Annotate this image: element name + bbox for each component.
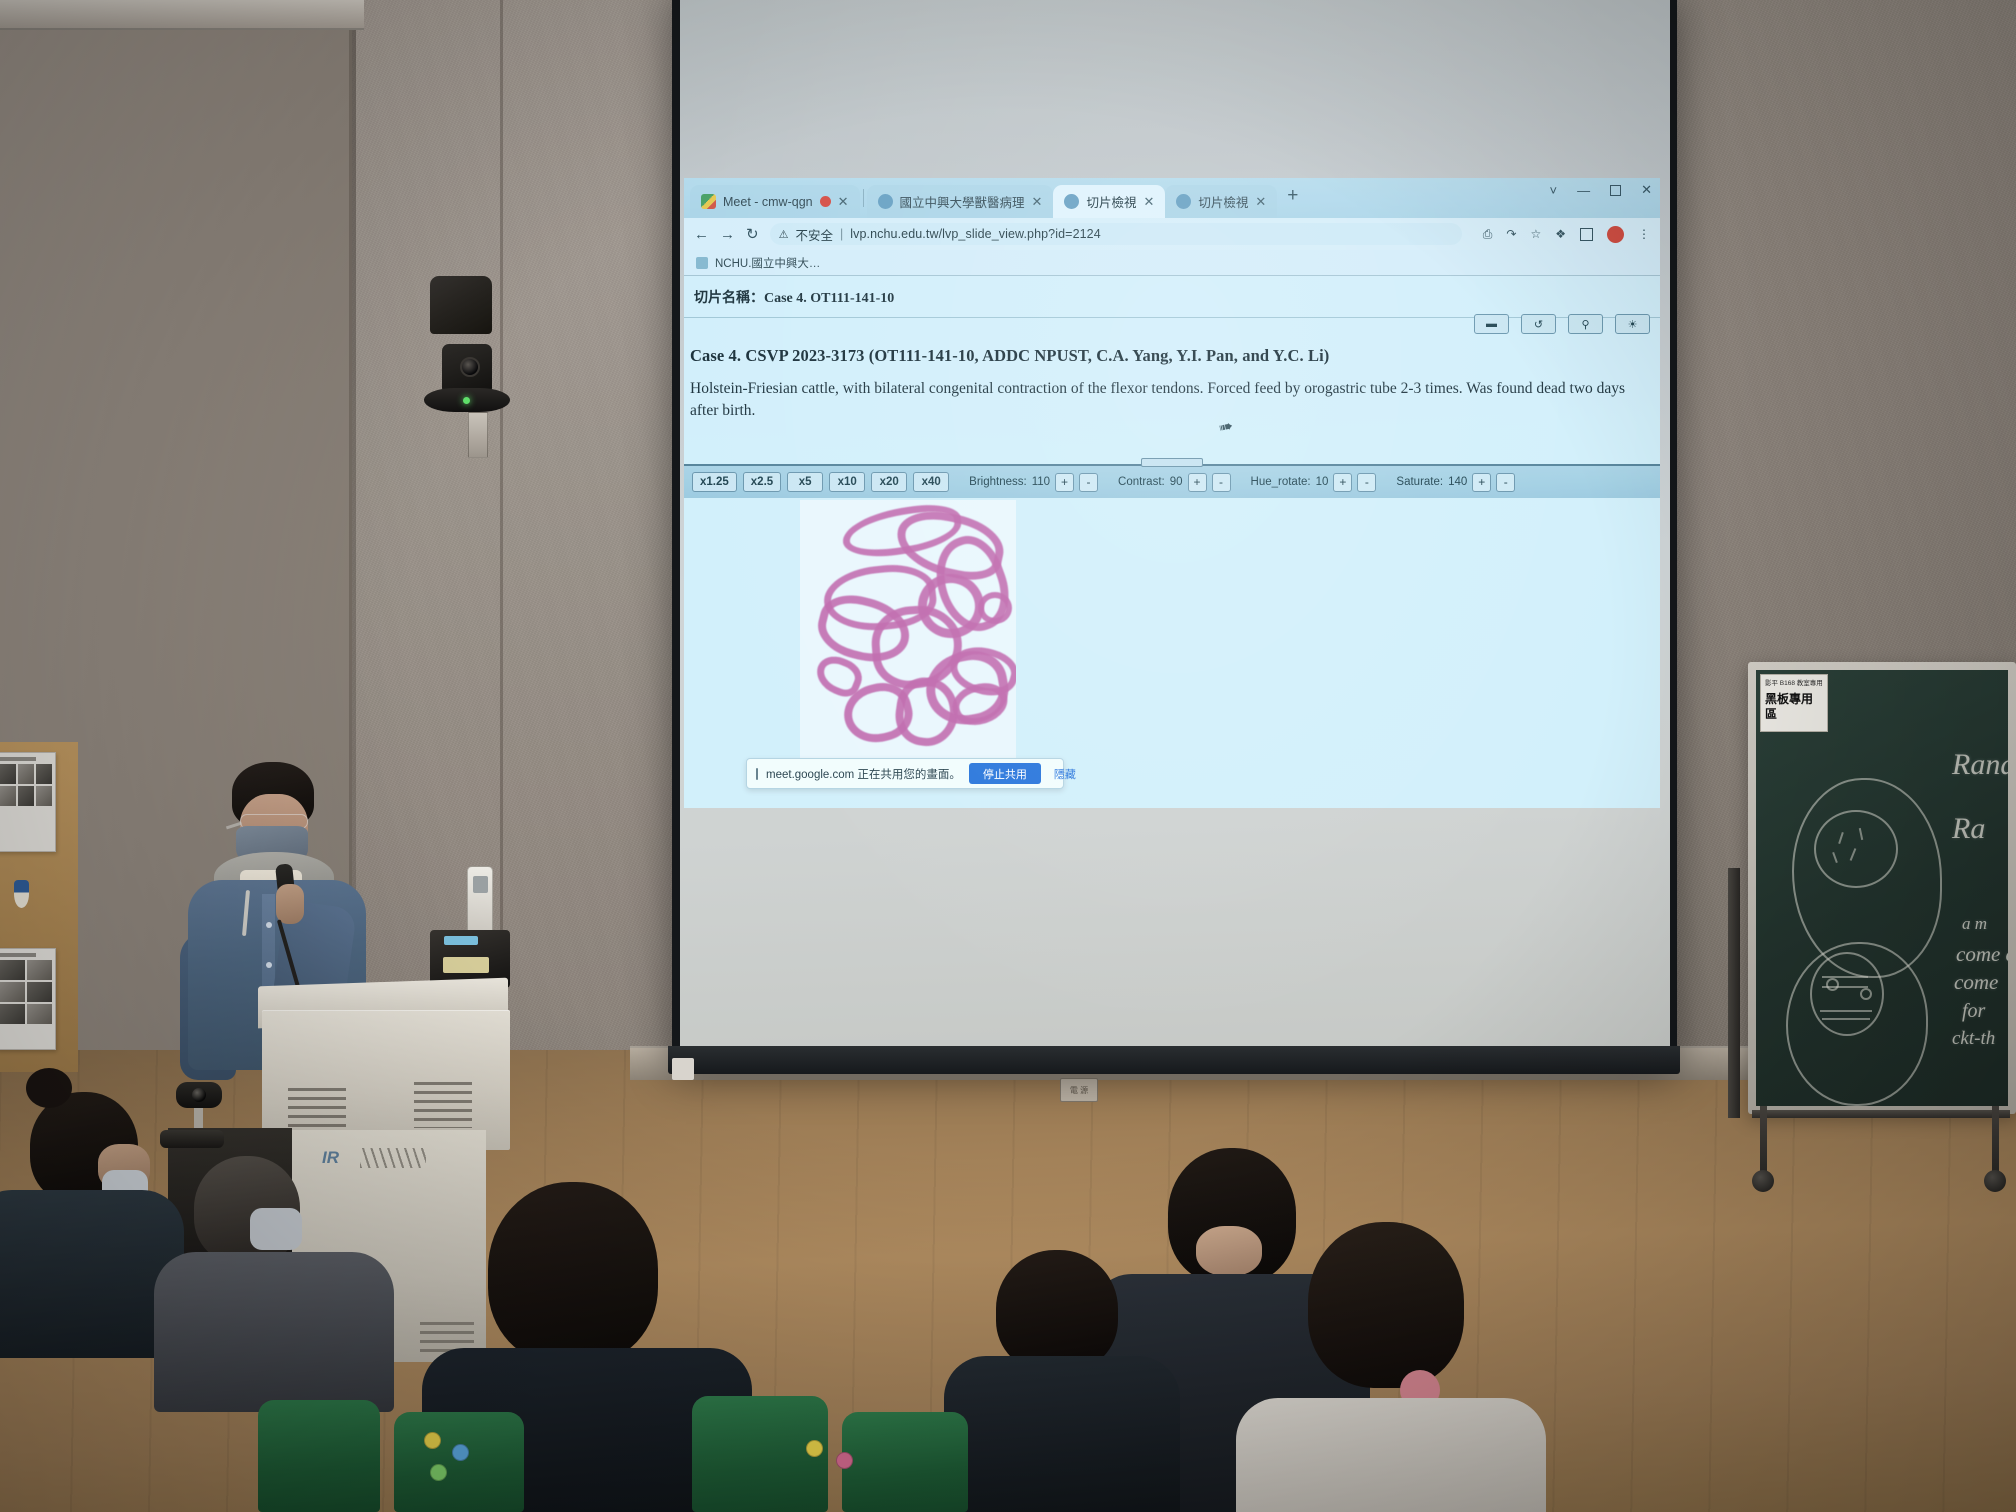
- poster-image-cell: [0, 786, 16, 806]
- close-icon[interactable]: ✕: [1032, 194, 1043, 210]
- globe-icon: [1176, 194, 1191, 209]
- ceiling-speaker: [430, 276, 492, 334]
- sign-title: 黑板專用區: [1765, 692, 1823, 722]
- tab-label: 切片檢視: [1086, 192, 1136, 211]
- screen-share-icon: [756, 768, 758, 780]
- close-icon[interactable]: ✕: [1255, 194, 1266, 210]
- viewer-tool-buttons: ▬ ↺ ⚲ ☀: [1474, 314, 1650, 334]
- chalk-writing-7: ckt-th: [1952, 1028, 1995, 1050]
- address-bar[interactable]: ⚠ 不安全 | lvp.nchu.edu.tw/lvp_slide_view.p…: [770, 223, 1462, 245]
- magnification-x20[interactable]: x20: [871, 472, 907, 492]
- menu-icon[interactable]: ⋮: [1638, 227, 1650, 241]
- share-message: meet.google.com 正在共用您的畫面。: [766, 766, 961, 782]
- audience-body: [944, 1356, 1180, 1512]
- brightness-control: Brightness: 110 + -: [969, 473, 1098, 492]
- ptz-camera: [442, 344, 492, 390]
- poster-title-bar: [0, 953, 36, 957]
- chalk-writing-1: Rand: [1952, 748, 2008, 782]
- reload-icon[interactable]: ↻: [746, 225, 759, 243]
- close-icon[interactable]: ✕: [1143, 194, 1154, 210]
- seat-badge: [806, 1440, 823, 1457]
- chalkboard-sign: 影平 B168 教室專用 黑板專用區: [1760, 674, 1828, 732]
- seat-badge: [424, 1432, 441, 1449]
- brightness-increase-button[interactable]: +: [1055, 473, 1074, 492]
- chalk-writing-5: come: [1954, 970, 1998, 995]
- tab-label: 國立中興大學獸醫病理: [900, 192, 1025, 211]
- camera-lens-icon: [460, 357, 480, 377]
- screen-pull-tab: [672, 1058, 694, 1080]
- contrast-decrease-button[interactable]: -: [1212, 473, 1231, 492]
- audience-head: [488, 1182, 658, 1364]
- url-text: lvp.nchu.edu.tw/lvp_slide_view.php?id=21…: [850, 227, 1101, 241]
- jacket-button: [266, 922, 272, 928]
- contrast-increase-button[interactable]: +: [1188, 473, 1207, 492]
- tab-separator: [863, 189, 864, 207]
- contrast-control: Contrast: 90 + -: [1118, 473, 1230, 492]
- not-secure-warning-icon: ⚠: [779, 228, 789, 241]
- seat-badge: [836, 1452, 853, 1469]
- hue-rotate-control: Hue_rotate: 10 + -: [1251, 473, 1377, 492]
- wall-seam: [500, 0, 503, 1070]
- tab-label: Meet - cmw-qgn: [723, 195, 813, 209]
- audience-head: [1308, 1222, 1464, 1388]
- page-content: 切片名稱：Case 4. OT111-141-10 Case 4. CSVP 2…: [684, 276, 1660, 808]
- slide-name-label: 切片名稱：Case 4. OT111-141-10: [694, 287, 894, 307]
- tab-slide-viewer-active[interactable]: 切片檢視 ✕: [1053, 185, 1165, 218]
- slide-viewer-toolbar: x1.25 x2.5 x5 x10 x20 x40 Brightness: 11…: [684, 464, 1660, 498]
- saturate-increase-button[interactable]: +: [1472, 473, 1491, 492]
- tab-label: 切片檢視: [1198, 192, 1248, 211]
- back-arrow-icon[interactable]: ←: [694, 226, 709, 243]
- screen-share-notification[interactable]: meet.google.com 正在共用您的畫面。 停止共用 隱藏: [746, 758, 1064, 789]
- globe-icon: [878, 194, 893, 209]
- chalk-writing-4: come c: [1956, 942, 2008, 967]
- brightness-icon[interactable]: ☀: [1615, 314, 1650, 334]
- meet-icon: [701, 194, 716, 209]
- bookmark-item-nchu[interactable]: NCHU.國立中興大…: [715, 255, 820, 271]
- saturate-control: Saturate: 140 + -: [1396, 473, 1515, 492]
- poster-image-cell: [0, 960, 25, 980]
- histology-slide-image[interactable]: [800, 500, 1016, 770]
- chalkboard-support-pole: [1728, 868, 1740, 1118]
- poster-image-cell: [0, 1004, 25, 1024]
- audience-member-2: [170, 1156, 400, 1406]
- audience-member-5: [1260, 1222, 1530, 1512]
- chalk-mark: [1820, 1010, 1872, 1012]
- audience-body: [154, 1252, 394, 1412]
- magnification-x1-25[interactable]: x1.25: [692, 472, 737, 492]
- globe-icon: [1064, 194, 1079, 209]
- poster-title-bar: [0, 757, 36, 761]
- lecture-hall-scene: 電 源 Meet - cmw-qgn ✕ 國立中興大學獸醫病理 ✕ 切片檢視: [0, 0, 2016, 1512]
- hide-button[interactable]: 隱藏: [1049, 766, 1081, 782]
- magnification-x2-5[interactable]: x2.5: [743, 472, 781, 492]
- webcam: [176, 1082, 222, 1108]
- audience-face-mask: [250, 1208, 302, 1250]
- poster-image-grid: [0, 960, 52, 1024]
- brightness-value: 110: [1032, 476, 1050, 488]
- chalk-drawing-face-2: [1810, 952, 1884, 1036]
- extensions-icon[interactable]: ❖: [1555, 227, 1566, 241]
- audience-head: [996, 1250, 1118, 1372]
- case-description: Holstein-Friesian cattle, with bilateral…: [690, 378, 1656, 422]
- seat-badge: [430, 1464, 447, 1481]
- screenshot-icon[interactable]: ⎙: [1483, 227, 1493, 242]
- poster-image-cell: [27, 960, 52, 980]
- lectern-vent: [414, 1082, 472, 1128]
- chalk-mark: [1822, 1018, 1870, 1020]
- case-title: Case 4. CSVP 2023-3173 (OT111-141-10, AD…: [690, 346, 1640, 366]
- chalk-eye: [1826, 978, 1839, 991]
- lectern-body: [262, 1010, 510, 1150]
- browser-toolbar: ← → ↻ ⚠ 不安全 | lvp.nchu.edu.tw/lvp_slide_…: [684, 218, 1660, 250]
- share-icon[interactable]: ↷: [1506, 227, 1516, 241]
- forward-arrow-icon[interactable]: →: [720, 226, 735, 243]
- magnification-x10[interactable]: x10: [829, 472, 865, 492]
- poster-top: [0, 752, 56, 852]
- sign-subtitle: 影平 B168 教室專用: [1765, 680, 1823, 688]
- hue-rotate-increase-button[interactable]: +: [1333, 473, 1352, 492]
- poster-image-grid: [0, 764, 52, 806]
- poster-image-cell: [36, 786, 52, 806]
- poster-image-cell: [0, 764, 16, 784]
- magnification-x5[interactable]: x5: [787, 472, 823, 492]
- ruler-icon[interactable]: ▬: [1474, 314, 1509, 334]
- hue-rotate-value: 10: [1316, 476, 1329, 488]
- tab-strip: Meet - cmw-qgn ✕ 國立中興大學獸醫病理 ✕ 切片檢視 ✕ 切片檢…: [684, 178, 1660, 218]
- bookmark-icon: [696, 257, 708, 269]
- presenter-hand: [276, 884, 304, 924]
- new-tab-button[interactable]: +: [1277, 185, 1308, 207]
- security-label: 不安全: [795, 225, 833, 244]
- hue-rotate-label: Hue_rotate:: [1251, 476, 1311, 488]
- webcam-stand: [194, 1106, 203, 1128]
- camera-wall-mount: [468, 412, 488, 458]
- tab-nchu-vetpath[interactable]: 國立中興大學獸醫病理 ✕: [867, 185, 1054, 218]
- chevron-down-icon[interactable]: ˅: [1550, 183, 1558, 198]
- histology-slide-viewport[interactable]: [800, 500, 1016, 770]
- window-controls: ˅ — ✕: [1550, 182, 1653, 198]
- audience-body: [1236, 1398, 1546, 1512]
- jacket-button: [266, 962, 272, 968]
- poster-image-cell: [18, 764, 34, 784]
- chalk-writing-6: for: [1962, 1000, 1985, 1023]
- projected-browser-window[interactable]: Meet - cmw-qgn ✕ 國立中興大學獸醫病理 ✕ 切片檢視 ✕ 切片檢…: [684, 178, 1660, 808]
- poster-image-cell: [27, 982, 52, 1002]
- image-search-icon[interactable]: ⚲: [1568, 314, 1603, 334]
- seat: [394, 1412, 524, 1512]
- brightness-label: Brightness:: [969, 476, 1027, 488]
- stand-leg: [1760, 1106, 1767, 1176]
- poster-image-cell: [18, 786, 34, 806]
- omnibox-divider: |: [840, 227, 843, 241]
- stand-leg: [1992, 1106, 1999, 1176]
- contrast-value: 90: [1170, 476, 1183, 488]
- stand-crossbar: [1752, 1110, 2010, 1118]
- close-icon[interactable]: ✕: [1641, 182, 1652, 198]
- scrollbar-handle[interactable]: [1141, 458, 1203, 467]
- chalk-writing-3: a m: [1962, 914, 1987, 934]
- saturate-label: Saturate:: [1396, 476, 1443, 488]
- poster-image-cell: [0, 982, 25, 1002]
- tab-slide-viewer-2[interactable]: 切片檢視 ✕: [1165, 185, 1277, 218]
- audience-face: [1196, 1226, 1262, 1276]
- seat: [258, 1400, 380, 1512]
- brightness-decrease-button[interactable]: -: [1079, 473, 1098, 492]
- ceiling-strip: [0, 0, 364, 30]
- close-icon[interactable]: ✕: [838, 194, 849, 210]
- camera-status-led: [463, 397, 470, 404]
- chalk-eye: [1860, 988, 1872, 1000]
- hue-rotate-decrease-button[interactable]: -: [1357, 473, 1376, 492]
- rotate-icon[interactable]: ↺: [1521, 314, 1556, 334]
- pushpin: [14, 880, 29, 908]
- chalkboard-frame: 影平 B168 教室專用 黑板專用區 Rand Ra a m come c co…: [1748, 662, 2016, 1114]
- lectern-vent: [288, 1088, 346, 1134]
- recording-dot-icon: [820, 196, 831, 207]
- saturate-value: 140: [1448, 476, 1467, 488]
- screen-bottom-bar: [668, 1046, 1680, 1074]
- chalk-writing-2: Ra: [1952, 812, 1985, 846]
- bookmark-star-icon[interactable]: ☆: [1530, 227, 1541, 241]
- chalkboard-surface: 影平 B168 教室專用 黑板專用區 Rand Ra a m come c co…: [1756, 670, 2008, 1106]
- magnification-x40[interactable]: x40: [913, 472, 949, 492]
- minimize-icon[interactable]: —: [1577, 183, 1590, 198]
- maximize-icon[interactable]: [1610, 185, 1621, 196]
- audience-member-1: [0, 1062, 180, 1352]
- poster-image-cell: [36, 764, 52, 784]
- profile-icon[interactable]: [1580, 228, 1593, 241]
- stop-sharing-button[interactable]: 停止共用: [969, 763, 1041, 784]
- recording-badge-icon[interactable]: [1607, 226, 1624, 243]
- caster-wheel: [1984, 1170, 2006, 1192]
- seat-badge: [452, 1444, 469, 1461]
- seat: [842, 1412, 968, 1512]
- contrast-label: Contrast:: [1118, 476, 1165, 488]
- audience-hair-bun: [26, 1068, 72, 1108]
- caster-wheel: [1752, 1170, 1774, 1192]
- poster-image-cell: [27, 1004, 52, 1024]
- audience-member-6: [960, 1250, 1160, 1512]
- saturate-decrease-button[interactable]: -: [1496, 473, 1515, 492]
- toolbar-actions: ⎙ ↷ ☆ ❖ ⋮: [1473, 226, 1650, 243]
- poster-bottom: [0, 948, 56, 1050]
- chalkboard-stand: [1752, 1106, 2010, 1192]
- control-unit-label: [444, 936, 478, 945]
- bookmarks-bar: NCHU.國立中興大…: [684, 250, 1660, 275]
- wall-outlet: 電 源: [1060, 1078, 1098, 1102]
- tab-meet[interactable]: Meet - cmw-qgn ✕: [690, 185, 860, 218]
